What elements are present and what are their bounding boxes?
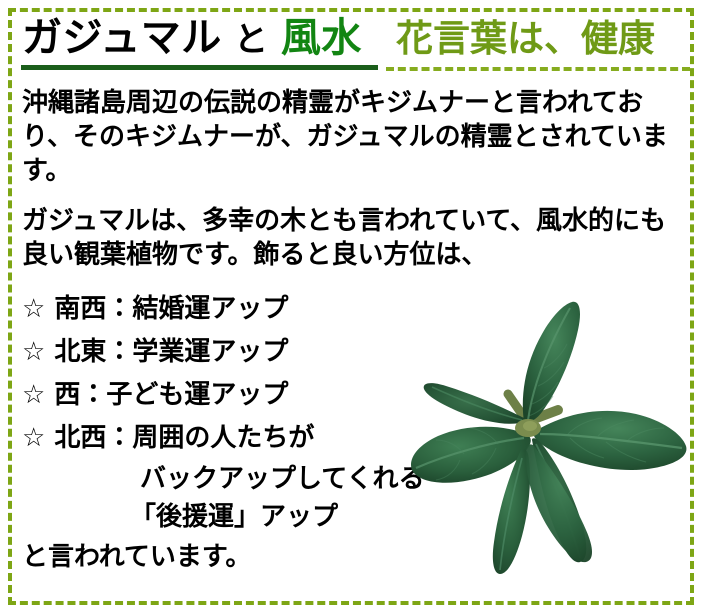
- infographic-page: ガジュマル と 風水 花言葉は、健康 沖縄諸島周辺の伝説の精霊がキジムナーと言わ…: [0, 0, 702, 613]
- page-title-part-conjunction: と: [222, 20, 281, 60]
- list-item: ☆ 北東：学業運アップ: [22, 331, 686, 374]
- page-title-part-plant: ガジュマル: [22, 15, 222, 61]
- list-item-continuation: バックアップしてくれる: [22, 460, 686, 498]
- paragraph-fengshui-directions-intro: ガジュマルは、多幸の木とも言われていて、風水的にも良い観葉植物です。飾ると良い方…: [22, 204, 672, 272]
- list-item-continuation: 「後援運」アップ: [22, 498, 686, 536]
- page-title-part-fengshui: 風水: [281, 15, 362, 61]
- list-item: ☆ 南西：結婚運アップ: [22, 288, 686, 331]
- subtitle-underline-dashed: [386, 67, 690, 71]
- closing-sentence: と言われています。: [22, 538, 686, 576]
- body-text-column: 沖縄諸島周辺の伝説の精霊がキジムナーと言われており、そのキジムナーが、ガジュマル…: [22, 86, 686, 576]
- list-item: ☆ 西：子ども運アップ: [22, 374, 686, 417]
- page-subtitle: 花言葉は、健康: [396, 16, 692, 62]
- page-title: ガジュマル と 風水: [22, 14, 378, 64]
- heading-row: ガジュマル と 風水 花言葉は、健康: [0, 14, 702, 84]
- list-item: ☆ 北西：周囲の人たちが: [22, 417, 686, 460]
- direction-list: ☆ 南西：結婚運アップ ☆ 北東：学業運アップ ☆ 西：子ども運アップ ☆ 北西…: [22, 288, 686, 460]
- title-underline-solid: [21, 65, 378, 70]
- paragraph-kijimuna: 沖縄諸島周辺の伝説の精霊がキジムナーと言われており、そのキジムナーが、ガジュマル…: [22, 86, 682, 188]
